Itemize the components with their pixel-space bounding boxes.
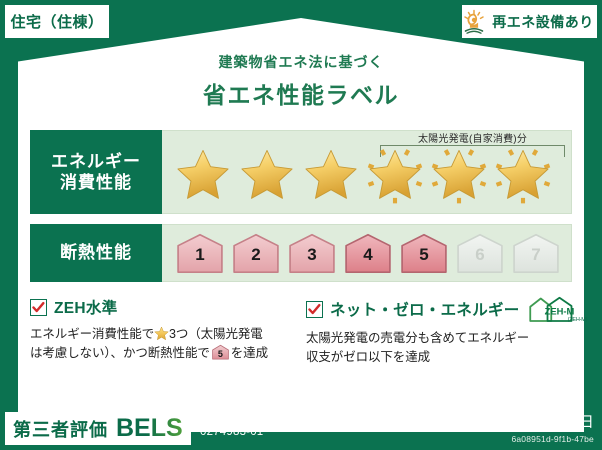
bels-number: 0274983-01 bbox=[200, 426, 263, 438]
zeh-m-badge-sublabel: (ZEH-M) bbox=[568, 317, 588, 323]
evaluation-date: 評価日 2025年7月18日 bbox=[442, 411, 594, 432]
net-zero-checkbox[interactable] bbox=[306, 301, 323, 318]
third-party-label: 第三者評価 bbox=[13, 416, 108, 442]
insulation-level-1: 1 bbox=[174, 232, 226, 274]
insulation-label: 断熱性能 bbox=[60, 242, 132, 263]
insulation-level-6: 6 bbox=[454, 232, 506, 274]
renewable-equipment-chip: 再エネ設備あり bbox=[462, 5, 597, 38]
insulation-level-number: 5 bbox=[398, 245, 450, 265]
insulation-house-icon: 5 bbox=[211, 344, 230, 360]
insulation-level-number: 7 bbox=[510, 245, 562, 265]
energy-label-line2: 消費性能 bbox=[60, 172, 132, 193]
insulation-level-number: 3 bbox=[286, 245, 338, 265]
third-party-evaluation-chip: 第三者評価 BELS bbox=[5, 412, 191, 445]
zeh-criteria-block: ZEH水準 エネルギー消費性能で 3つ（太陽光発電 は考慮しない）、かつ断熱性能… bbox=[30, 296, 298, 364]
energy-performance-row: エネルギー 消費性能 太陽光発電(自家消費)分 bbox=[30, 130, 572, 214]
zeh-body-part4: を達成 bbox=[231, 346, 268, 360]
energy-star-solar bbox=[492, 145, 554, 207]
net-zero-criteria-body: 太陽光発電の売電分も含めてエネルギー 収支がゼロ以下を達成 bbox=[306, 329, 578, 368]
energy-label-line1: エネルギー bbox=[51, 151, 141, 172]
label-main-title: 省エネ性能ラベル bbox=[0, 76, 602, 110]
net-zero-criteria-header: ネット・ゼロ・エネルギー ZEH-M (ZEH-M) bbox=[306, 296, 578, 322]
insulation-performance-label-box: 断熱性能 bbox=[30, 224, 162, 282]
insulation-level-5: 5 bbox=[398, 232, 450, 274]
renewable-equipment-label: 再エネ設備あり bbox=[492, 12, 594, 32]
zeh-body-part2: 3つ（太陽光発電 bbox=[169, 327, 263, 341]
insulation-level-scale: 1234567 bbox=[162, 232, 562, 274]
zeh-criteria-title: ZEH水準 bbox=[54, 296, 118, 318]
dwelling-type-chip: 住宅（住棟） bbox=[5, 5, 109, 38]
zeh-criteria-body: エネルギー消費性能で 3つ（太陽光発電 は考慮しない）、かつ断熱性能で bbox=[30, 325, 298, 364]
energy-star bbox=[172, 145, 234, 207]
star-icon bbox=[154, 326, 169, 341]
energy-performance-label: 住宅（住棟） 再エネ設備あり 建築物省エネ法に基づく 省エネ性能ラベル bbox=[0, 0, 602, 450]
insulation-level-2: 2 bbox=[230, 232, 282, 274]
net-zero-criteria-block: ネット・ゼロ・エネルギー ZEH-M (ZEH-M) 太陽光発電の売電分も含めて… bbox=[306, 296, 578, 368]
insulation-level-7: 7 bbox=[510, 232, 562, 274]
bels-logo: BELS bbox=[116, 414, 183, 443]
insulation-performance-row: 断熱性能 1234567 bbox=[30, 224, 572, 282]
energy-star bbox=[236, 145, 298, 207]
insulation-level-number: 6 bbox=[454, 245, 506, 265]
insulation-level-number: 1 bbox=[174, 245, 226, 265]
energy-star-solar bbox=[364, 145, 426, 207]
evaluation-meta: 評価日 2025年7月18日 6a08951d-9f1b-47be bbox=[442, 411, 594, 444]
insulation-level-4: 4 bbox=[342, 232, 394, 274]
energy-star-rating bbox=[162, 145, 554, 207]
zeh-body-part3: は考慮しない）、かつ断熱性能で bbox=[30, 346, 210, 360]
insulation-level-number: 4 bbox=[342, 245, 394, 265]
zeh-criteria-header: ZEH水準 bbox=[30, 296, 298, 318]
dwelling-type-label: 住宅（住棟） bbox=[10, 11, 103, 32]
insulation-performance-body: 1234567 bbox=[162, 225, 571, 281]
insulation-house-number: 5 bbox=[211, 348, 230, 362]
zeh-body-part1: エネルギー消費性能で bbox=[30, 327, 154, 341]
energy-performance-body: 太陽光発電(自家消費)分 bbox=[162, 131, 571, 213]
energy-star bbox=[300, 145, 362, 207]
label-subtitle: 建築物省エネ法に基づく bbox=[0, 52, 602, 72]
sun-renewable-icon bbox=[461, 9, 487, 35]
zeh-m-badge-icon: ZEH-M (ZEH-M) bbox=[528, 296, 582, 322]
energy-performance-label-box: エネルギー 消費性能 bbox=[30, 130, 162, 214]
net-zero-body-line2: 収支がゼロ以下を達成 bbox=[306, 348, 578, 367]
insulation-level-number: 2 bbox=[230, 245, 282, 265]
svg-text:ZEH-M: ZEH-M bbox=[544, 306, 574, 316]
label-title-block: 建築物省エネ法に基づく 省エネ性能ラベル bbox=[0, 52, 602, 110]
energy-star-solar bbox=[428, 145, 490, 207]
net-zero-criteria-title: ネット・ゼロ・エネルギー bbox=[330, 298, 520, 320]
insulation-level-3: 3 bbox=[286, 232, 338, 274]
solar-bracket-label: 太陽光発電(自家消費)分 bbox=[380, 130, 565, 145]
net-zero-body-line1: 太陽光発電の売電分も含めてエネルギー bbox=[306, 329, 578, 348]
zeh-checkbox[interactable] bbox=[30, 299, 47, 316]
evaluation-hash: 6a08951d-9f1b-47be bbox=[442, 434, 594, 444]
